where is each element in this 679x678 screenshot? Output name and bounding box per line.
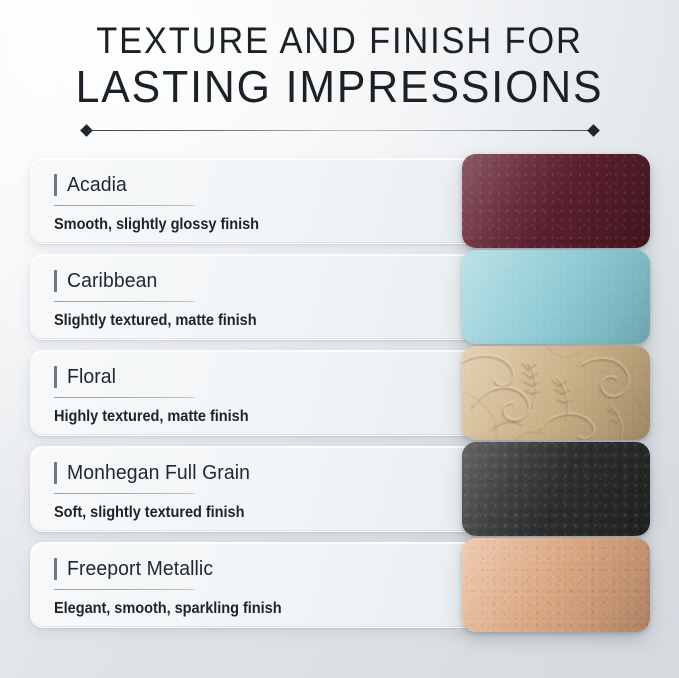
swatch-list: Acadia Smooth, slightly glossy finish Ca… xyxy=(0,154,679,634)
swatch-description: Soft, slightly textured finish xyxy=(54,504,417,522)
name-underline xyxy=(54,397,195,398)
swatch-gloss-overlay xyxy=(462,442,650,536)
swatch-name-row: Floral xyxy=(54,364,440,389)
swatch-name: Monhegan Full Grain xyxy=(67,463,250,483)
acadia-swatch[interactable] xyxy=(462,154,650,248)
swatch-name: Floral xyxy=(67,367,116,387)
floral-swatch[interactable] xyxy=(462,346,650,440)
swatch-name-row: Acadia xyxy=(54,172,440,197)
page-title-line-1: TEXTURE AND FINISH FOR xyxy=(41,22,639,60)
swatch-description: Smooth, slightly glossy finish xyxy=(54,216,417,234)
swatch-gloss-overlay xyxy=(462,154,650,248)
list-item[interactable]: Caribbean Slightly textured, matte finis… xyxy=(0,250,679,346)
swatch-gloss-overlay xyxy=(462,346,650,440)
freeport-metallic-swatch[interactable] xyxy=(462,538,650,632)
name-underline xyxy=(54,205,195,206)
swatch-name: Caribbean xyxy=(67,271,157,291)
caribbean-swatch[interactable] xyxy=(462,250,650,344)
list-item[interactable]: Freeport Metallic Elegant, smooth, spark… xyxy=(0,538,679,634)
page-title-line-2: LASTING IMPRESSIONS xyxy=(34,64,645,111)
accent-bar-icon xyxy=(54,462,57,484)
swatch-card-body: Caribbean Slightly textured, matte finis… xyxy=(54,268,440,330)
list-item[interactable]: Acadia Smooth, slightly glossy finish xyxy=(0,154,679,250)
swatch-name-row: Freeport Metallic xyxy=(54,556,440,581)
swatch-description: Slightly textured, matte finish xyxy=(54,312,417,330)
swatch-card-body: Acadia Smooth, slightly glossy finish xyxy=(54,172,440,234)
swatch-description: Highly textured, matte finish xyxy=(54,408,417,426)
monhegan-full-grain-swatch[interactable] xyxy=(462,442,650,536)
diamond-right-icon xyxy=(587,124,600,137)
name-underline xyxy=(54,301,195,302)
swatch-gloss-overlay xyxy=(462,538,650,632)
swatch-name-row: Monhegan Full Grain xyxy=(54,460,440,485)
swatch-name: Acadia xyxy=(67,175,127,195)
list-item[interactable]: Floral Highly textured, matte finish xyxy=(0,346,679,442)
name-underline xyxy=(54,589,195,590)
divider-ornament xyxy=(80,122,600,140)
texture-finish-poster: TEXTURE AND FINISH FOR LASTING IMPRESSIO… xyxy=(0,0,679,678)
divider-rule xyxy=(88,130,592,131)
accent-bar-icon xyxy=(54,270,57,292)
accent-bar-icon xyxy=(54,558,57,580)
swatch-card-body: Freeport Metallic Elegant, smooth, spark… xyxy=(54,556,440,618)
accent-bar-icon xyxy=(54,366,57,388)
swatch-gloss-overlay xyxy=(462,250,650,344)
accent-bar-icon xyxy=(54,174,57,196)
swatch-name-row: Caribbean xyxy=(54,268,440,293)
list-item[interactable]: Monhegan Full Grain Soft, slightly textu… xyxy=(0,442,679,538)
poster-header: TEXTURE AND FINISH FOR LASTING IMPRESSIO… xyxy=(0,0,679,140)
swatch-name: Freeport Metallic xyxy=(67,559,213,579)
name-underline xyxy=(54,493,195,494)
swatch-card-body: Monhegan Full Grain Soft, slightly textu… xyxy=(54,460,440,522)
swatch-card-body: Floral Highly textured, matte finish xyxy=(54,364,440,426)
swatch-description: Elegant, smooth, sparkling finish xyxy=(54,600,417,618)
